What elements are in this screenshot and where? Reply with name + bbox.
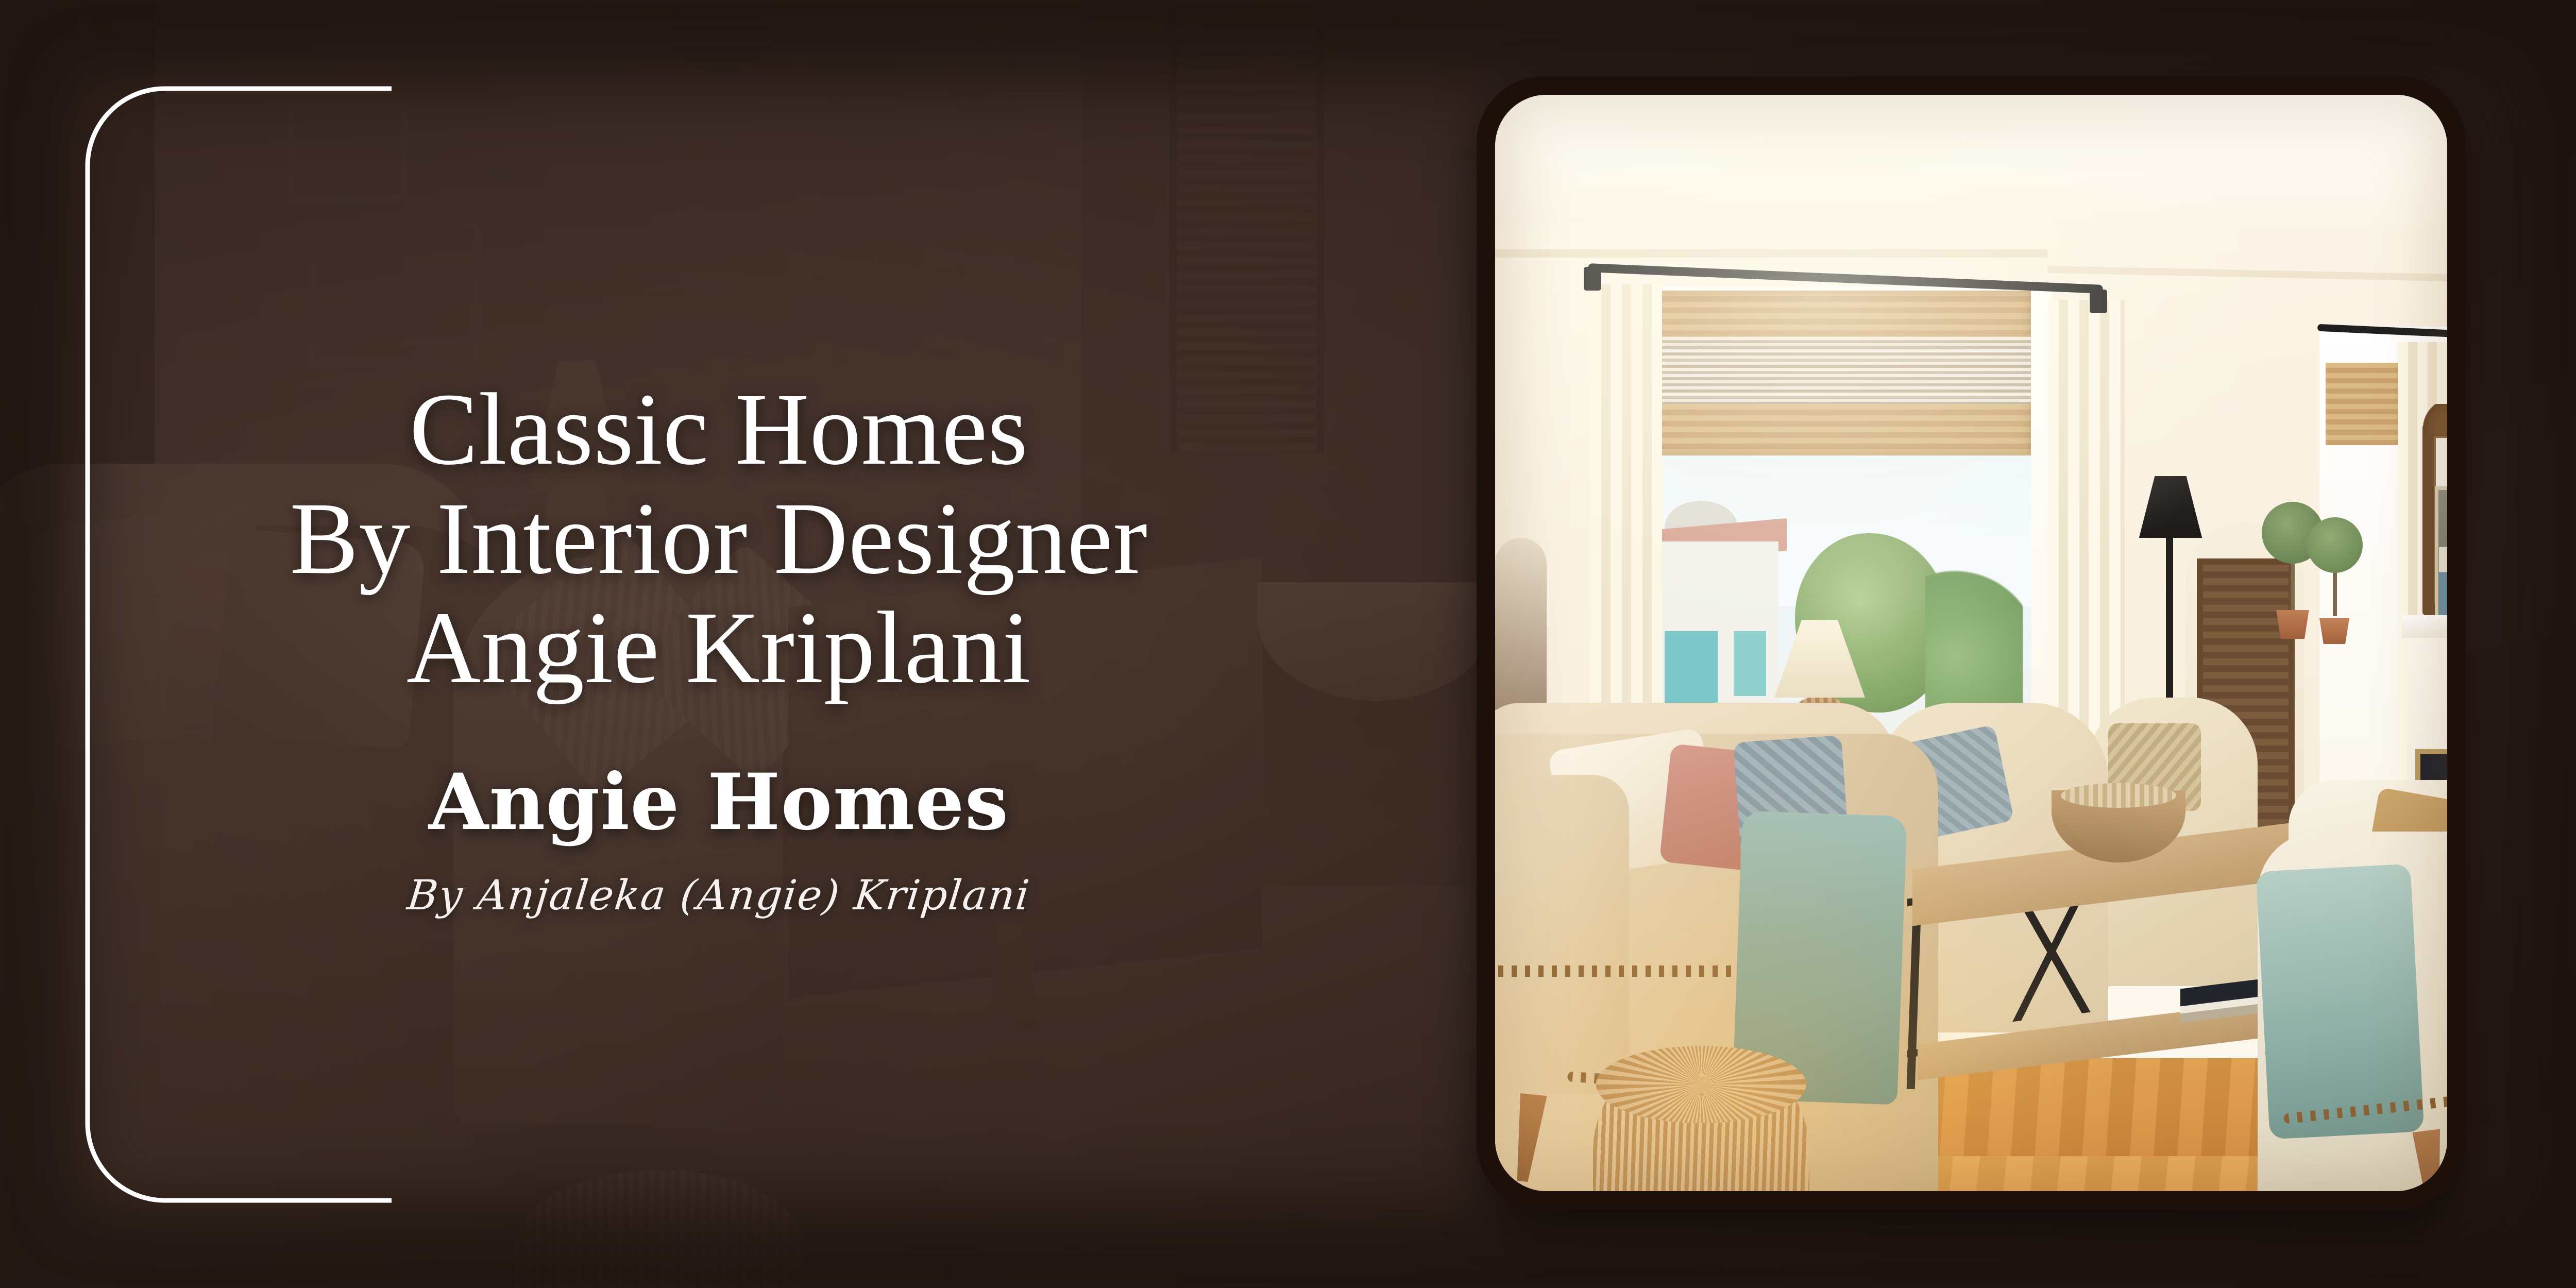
photo-inner-shadow <box>1495 95 2447 1191</box>
hero-photo <box>1495 95 2447 1191</box>
page-title-line-2: By Interior Designer <box>290 484 1147 594</box>
hero-photo-frame <box>1477 76 2466 1210</box>
author-byline: By Anjaleka (Angie) Kriplani <box>405 873 1032 918</box>
page-title-line-1: Classic Homes <box>290 375 1147 484</box>
banner-root: Classic Homes By Interior Designer Angie… <box>0 0 2576 1288</box>
page-title: Classic Homes By Interior Designer Angie… <box>290 375 1147 703</box>
page-title-line-3: Angie Kriplani <box>290 594 1147 703</box>
brand-name: Angie Homes <box>429 764 1009 841</box>
text-column: Classic Homes By Interior Designer Angie… <box>88 77 1350 1216</box>
